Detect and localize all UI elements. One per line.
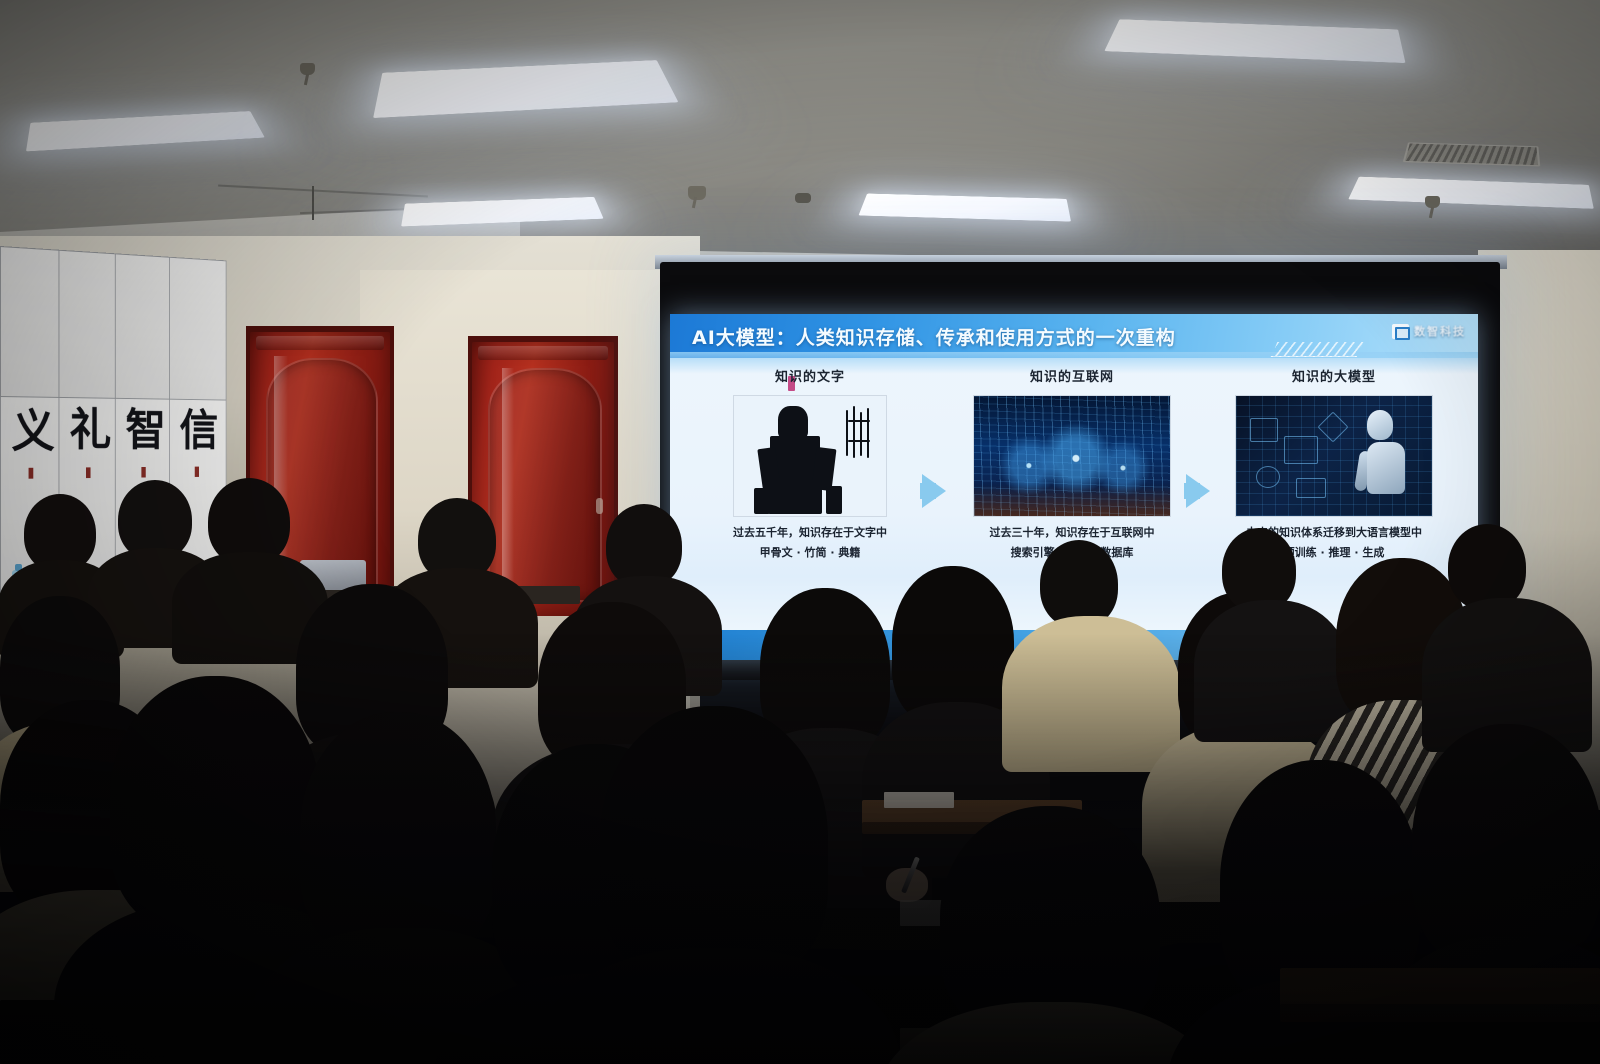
slide-title: AI大模型：人类知识存储、传承和使用方式的一次重构 <box>692 323 1176 350</box>
robot-body <box>1367 442 1405 494</box>
arrow-right-1-icon <box>922 474 946 508</box>
company-logo-mark-icon <box>1392 324 1409 339</box>
hair <box>892 566 1014 724</box>
slide-column-2-heading: 知识的互联网 <box>966 366 1178 385</box>
slide-logo: 数智科技 <box>1392 323 1466 339</box>
seal-mark-4 <box>195 467 199 477</box>
slide-column-1: 知识的文字 <box>704 366 916 561</box>
hair <box>110 676 320 932</box>
hair <box>760 588 890 750</box>
slide-column-2-image <box>973 395 1171 517</box>
door-right-top-rail <box>478 346 608 360</box>
door-right-gloss <box>502 368 514 588</box>
hair <box>300 712 496 960</box>
calligraphy-char-1: 义 <box>11 408 54 454</box>
calligraphy-char-4: 信 <box>179 408 218 451</box>
slide-column-3-heading: 知识的大模型 <box>1228 366 1440 385</box>
slide-column-2-caption: 过去三十年，知识存在于互联网中 <box>966 525 1178 541</box>
slide-logo-text: 数智科技 <box>1414 323 1466 339</box>
shoulders <box>1194 600 1348 742</box>
hair <box>600 706 828 982</box>
ancient-ink-illustration-icon <box>734 396 886 516</box>
calligraphy-char-3: 智 <box>126 408 166 452</box>
smoke-detector-icon <box>795 193 811 203</box>
head <box>1040 540 1118 628</box>
sprinkler-icon-1 <box>300 63 315 75</box>
slide-header-decoration <box>1271 342 1364 357</box>
slide-column-1-subcaption: 甲骨文 · 竹简 · 典籍 <box>704 545 916 561</box>
door-left-top-rail <box>256 336 384 350</box>
blue-network-city-icon <box>974 396 1170 516</box>
paper-stack-front <box>900 1028 1050 1064</box>
sprinkler-icon-3 <box>1425 196 1440 208</box>
ceiling-hanger-rod <box>312 186 314 220</box>
sprinkler-icon-2 <box>688 186 706 200</box>
seal-mark-2 <box>86 467 91 478</box>
desk-front-right-edge <box>1280 1004 1600 1022</box>
slide-column-1-image <box>733 395 887 517</box>
arrow-right-2-icon <box>1186 474 1210 508</box>
seal-mark-3 <box>141 467 145 478</box>
robot-head <box>1367 410 1393 440</box>
conference-room-photo: 义 礼 智 信 AI大模型：人类知识存储、传承和使用方式的一次重构 <box>0 0 1600 1064</box>
slide-column-1-caption: 过去五千年，知识存在于文字中 <box>704 525 916 541</box>
slide-column-2: 知识的互联网 过去三十年，知识存在于互联网中 搜索引擎 · 网页 · 数据库 <box>966 366 1178 561</box>
desk-front-right <box>1280 968 1600 1008</box>
desk-front-left <box>0 1000 300 1064</box>
paper-sheet-1 <box>884 792 954 808</box>
slide-column-1-heading: 知识的文字 <box>704 366 916 385</box>
shoulders-cream <box>1002 616 1180 772</box>
calligraphy-char-2: 礼 <box>70 407 112 452</box>
seal-mark-1 <box>29 468 34 479</box>
hair <box>1412 724 1600 968</box>
slide-column-3-image <box>1235 395 1433 517</box>
door-right-handle[interactable] <box>596 498 603 514</box>
robot-circuitry-icon <box>1236 396 1432 516</box>
